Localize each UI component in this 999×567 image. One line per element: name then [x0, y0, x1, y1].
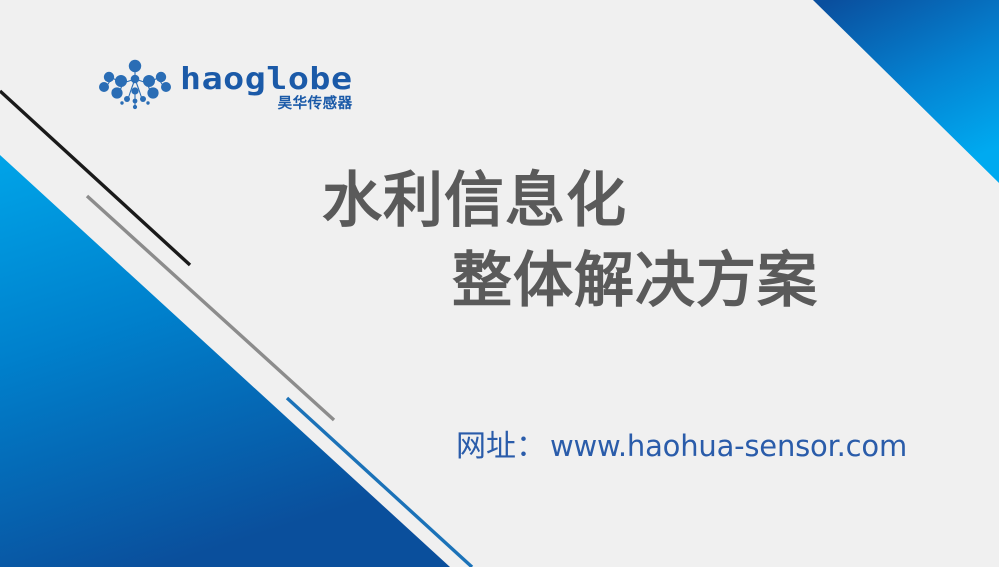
website-line: 网址： www.haohua-sensor.com — [456, 421, 907, 465]
logo-brand-name: haoglobe — [180, 64, 353, 96]
blue-diagonal-line — [287, 398, 472, 567]
brand-logo: haoglobe 昊华传感器 — [96, 57, 353, 113]
page-title: 水利信息化 整体解决方案 — [0, 162, 999, 322]
page-title-line-2: 整体解决方案 — [0, 242, 999, 322]
top-right-blue-triangle — [813, 0, 999, 183]
logo-brand-subtitle: 昊华传感器 — [278, 97, 353, 112]
title-slide: haoglobe 昊华传感器 水利信息化 整体解决方案 网址： www.haoh… — [0, 0, 999, 567]
logo-wordmark: haoglobe 昊华传感器 — [180, 59, 353, 111]
page-title-line-1: 水利信息化 — [0, 162, 999, 242]
website-url[interactable]: www.haohua-sensor.com — [550, 429, 907, 463]
website-label: 网址： — [456, 421, 546, 465]
molecule-network-logo-icon — [96, 57, 174, 113]
